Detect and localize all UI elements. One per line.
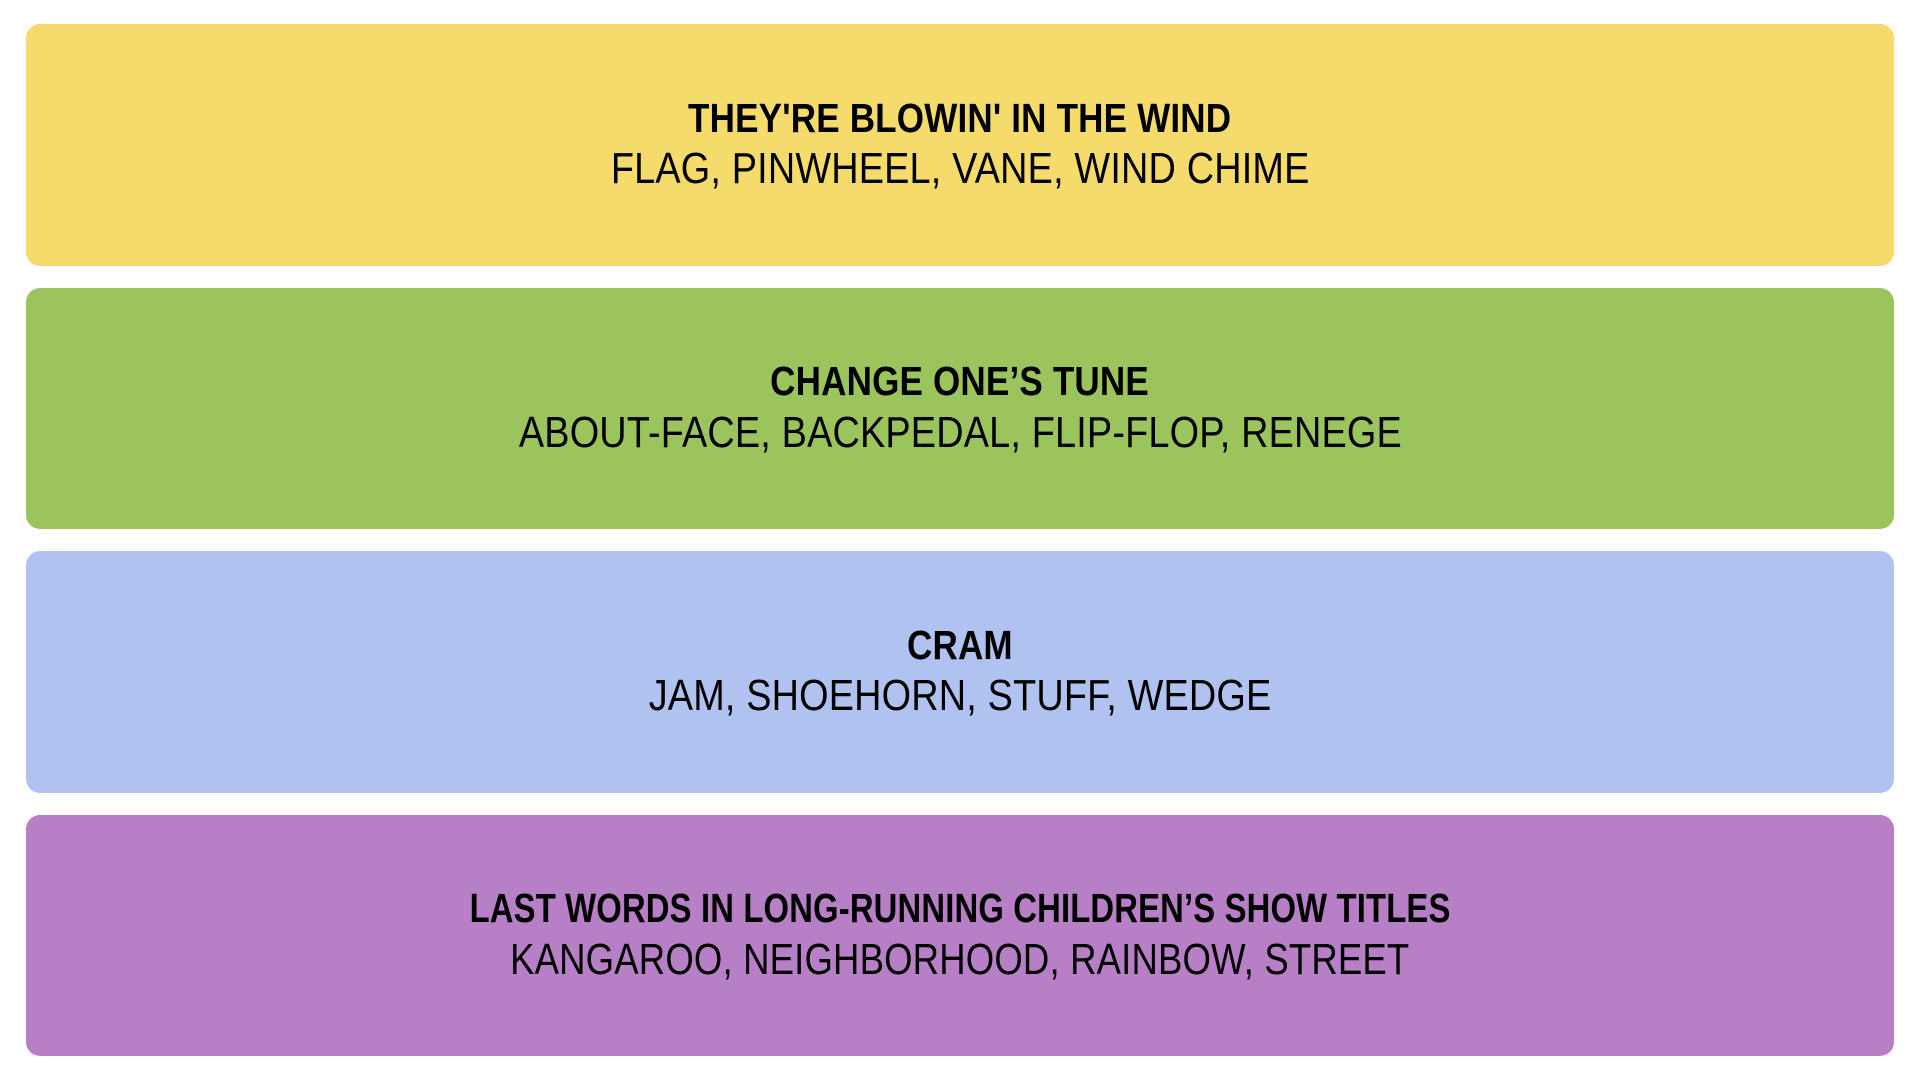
- group-band-yellow: THEY'RE BLOWIN' IN THE WIND FLAG, PINWHE…: [26, 24, 1894, 266]
- group-members: FLAG, PINWHEEL, VANE, WIND CHIME: [611, 146, 1310, 193]
- group-title: THEY'RE BLOWIN' IN THE WIND: [688, 97, 1231, 140]
- group-title: LAST WORDS IN LONG-RUNNING CHILDREN’S SH…: [470, 887, 1451, 930]
- group-band-blue: CRAM JAM, SHOEHORN, STUFF, WEDGE: [26, 551, 1894, 793]
- group-title: CRAM: [907, 624, 1013, 667]
- group-members: KANGAROO, NEIGHBORHOOD, RAINBOW, STREET: [510, 937, 1409, 984]
- group-band-purple: LAST WORDS IN LONG-RUNNING CHILDREN’S SH…: [26, 815, 1894, 1057]
- group-members: ABOUT-FACE, BACKPEDAL, FLIP-FLOP, RENEGE: [518, 410, 1401, 457]
- group-members: JAM, SHOEHORN, STUFF, WEDGE: [649, 673, 1272, 720]
- connections-solution-board: THEY'RE BLOWIN' IN THE WIND FLAG, PINWHE…: [0, 0, 1920, 1080]
- group-band-green: CHANGE ONE’S TUNE ABOUT-FACE, BACKPEDAL,…: [26, 288, 1894, 530]
- group-title: CHANGE ONE’S TUNE: [771, 360, 1150, 403]
